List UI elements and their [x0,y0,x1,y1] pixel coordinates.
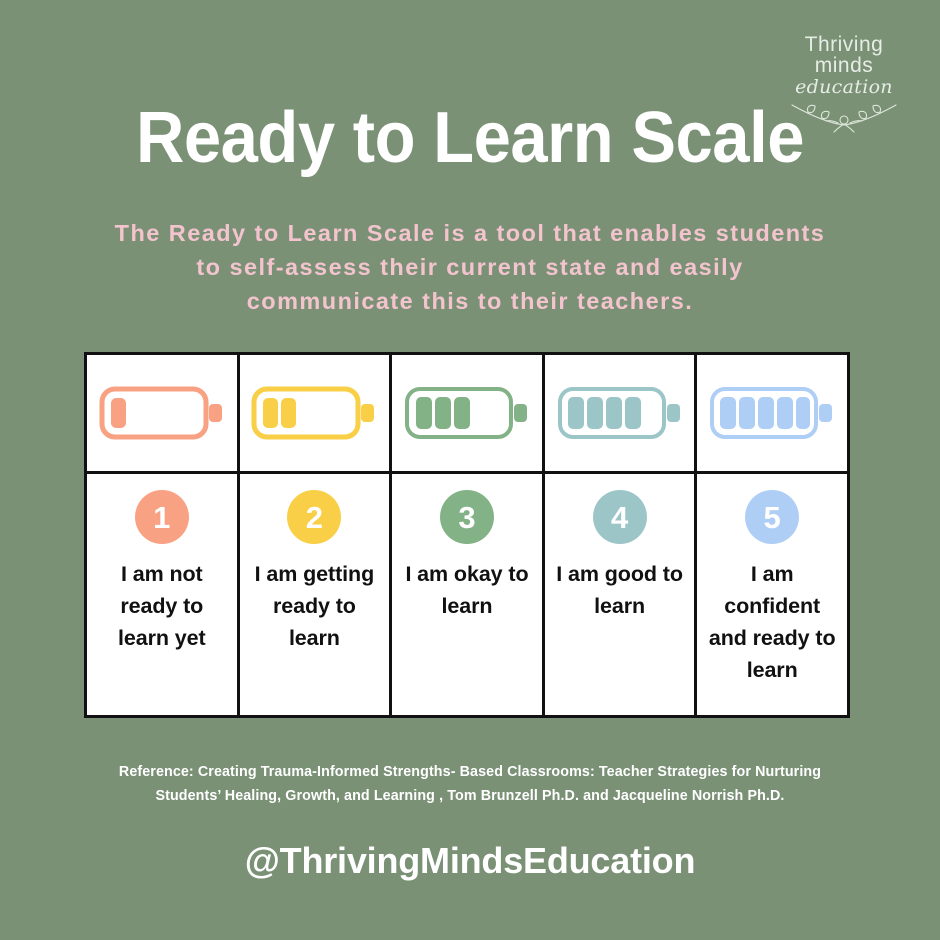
level-number-badge-1: 1 [135,490,189,544]
level-number-badge-4: 4 [593,490,647,544]
battery-level-4-icon [556,377,684,449]
page-subtitle: The Ready to Learn Scale is a tool that … [110,216,830,318]
level-label-5: I am confident and ready to learn [697,558,847,686]
scale-column-1[interactable]: 1 I am not ready to learn yet [87,355,240,715]
logo-line-thriving: Thriving [774,34,914,55]
label-cell-1: 1 I am not ready to learn yet [87,474,237,715]
ready-to-learn-scale-table: 1 I am not ready to learn yet 2 I am get… [84,352,850,718]
level-number-badge-2: 2 [287,490,341,544]
battery-cell-3 [392,355,542,474]
label-cell-5: 5 I am confident and ready to learn [697,474,847,715]
battery-level-1-icon [98,377,226,449]
scale-column-5[interactable]: 5 I am confident and ready to learn [697,355,847,715]
social-handle: @ThrivingMindsEducation [0,840,940,882]
battery-level-2-icon [250,377,378,449]
battery-cell-1 [87,355,237,474]
level-label-4: I am good to learn [545,558,695,622]
level-number-badge-3: 3 [440,490,494,544]
scale-column-2[interactable]: 2 I am getting ready to learn [240,355,393,715]
logo-line-education: education [774,78,914,97]
battery-cell-4 [545,355,695,474]
scale-column-4[interactable]: 4 I am good to learn [545,355,698,715]
battery-cell-5 [697,355,847,474]
level-label-1: I am not ready to learn yet [87,558,237,654]
label-cell-3: 3 I am okay to learn [392,474,542,715]
logo-line-minds: minds [774,55,914,76]
label-cell-2: 2 I am getting ready to learn [240,474,390,715]
page-title: Ready to Learn Scale [33,97,907,179]
battery-level-5-icon [708,377,836,449]
battery-cell-2 [240,355,390,474]
label-cell-4: 4 I am good to learn [545,474,695,715]
reference-citation: Reference: Creating Trauma-Informed Stre… [100,760,840,808]
level-label-2: I am getting ready to learn [240,558,390,654]
level-number-badge-5: 5 [745,490,799,544]
scale-column-3[interactable]: 3 I am okay to learn [392,355,545,715]
battery-level-3-icon [403,377,531,449]
level-label-3: I am okay to learn [392,558,542,622]
